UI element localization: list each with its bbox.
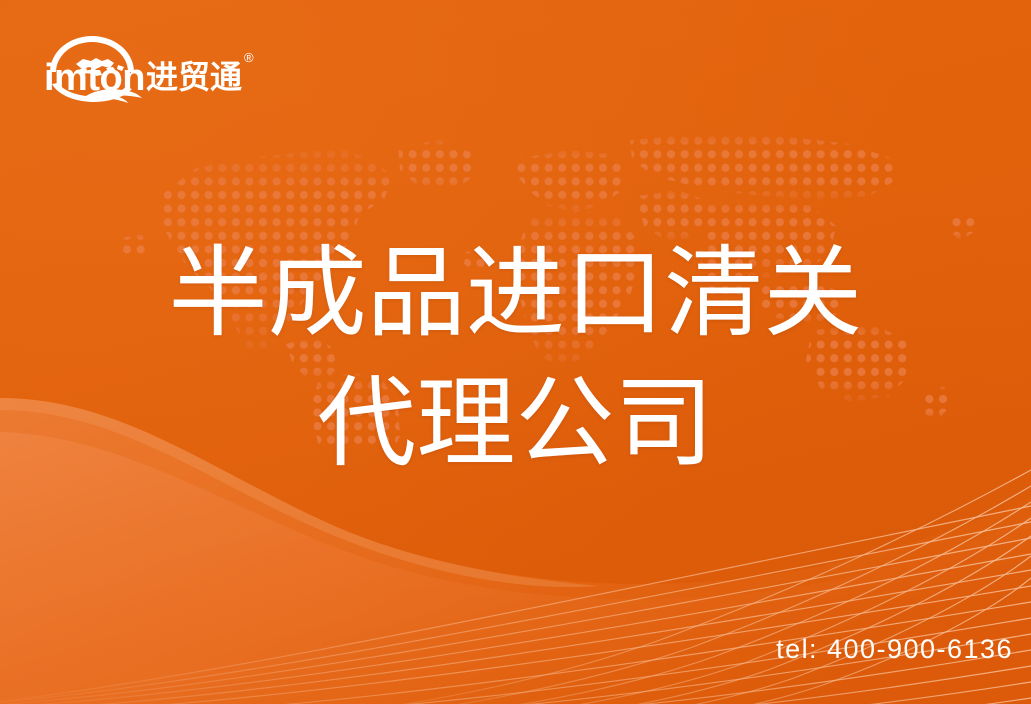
logo-artwork: imton 进贸通 ® [36,28,276,104]
headline-line-2: 代理公司 [0,358,1031,488]
contact-phone[interactable]: tel: 400-900-6136 [776,634,1013,665]
page-title: 半成品进口清关 代理公司 [0,228,1031,487]
registered-mark-icon: ® [244,50,254,65]
poster-canvas: imton 进贸通 ® 半成品进口清关 代理公司 tel: 400-900-61… [0,0,1031,704]
logo-latin-text: imton [44,57,145,99]
brand-logo[interactable]: imton 进贸通 ® [36,28,276,104]
logo-cn-text: 进贸通 [146,59,242,95]
headline-line-1: 半成品进口清关 [0,228,1031,358]
